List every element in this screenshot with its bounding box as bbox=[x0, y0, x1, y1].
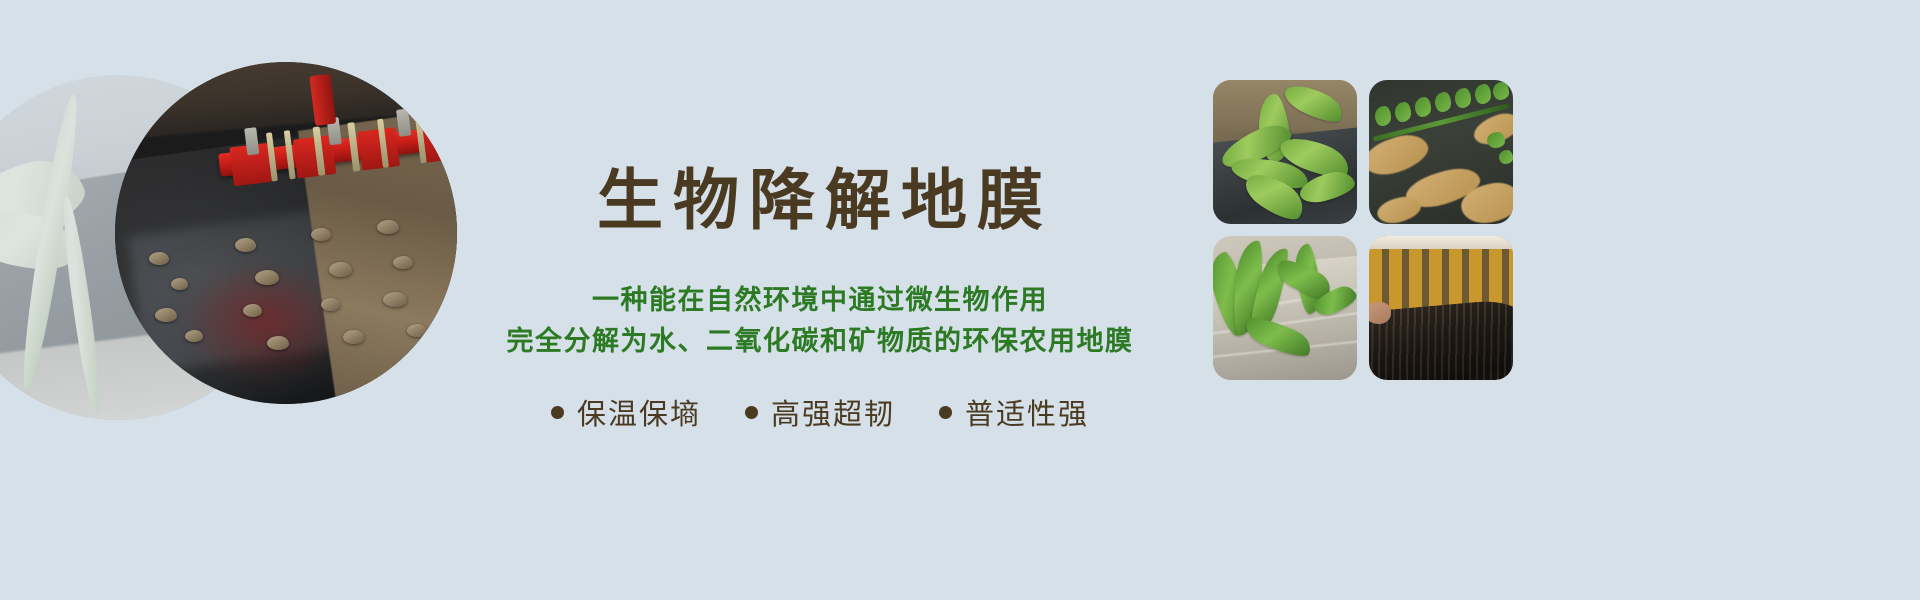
photo-film-laying-machine: 红色铺膜机在田间铺设黑色地膜 bbox=[115, 62, 457, 404]
hero-copy: 生物降解地膜 一种能在自然环境中通过微生物作用 完全分解为水、二氧化碳和矿物质的… bbox=[460, 0, 1180, 600]
photo-black-film-roll-by-fence: 木栅栏旁的黑色地膜卷 bbox=[1369, 236, 1513, 380]
page-title: 生物降解地膜 bbox=[587, 167, 1053, 237]
subtitle-line-2: 完全分解为水、二氧化碳和矿物质的环保农用地膜 bbox=[507, 321, 1134, 362]
feature-label: 普适性强 bbox=[965, 391, 1089, 433]
feature-label: 高强超韧 bbox=[771, 391, 895, 433]
bullet-dot-icon bbox=[745, 406, 758, 419]
bullet-dot-icon bbox=[551, 406, 564, 419]
product-photo-grid: 黑色地膜上的阔叶作物 覆膜田垄上的成排幼苗 bbox=[1213, 80, 1513, 400]
feature-label: 保温保墒 bbox=[577, 391, 701, 433]
hero-subtitle: 一种能在自然环境中通过微生物作用 完全分解为水、二氧化碳和矿物质的环保农用地膜 bbox=[507, 280, 1134, 361]
photo-corn-leaves-on-grey-film: 灰白地膜上的玉米叶片 bbox=[1213, 236, 1357, 380]
product-hero-banner: 作物植株生长在地膜上（淡化背景图） bbox=[0, 0, 1920, 600]
photo-broadleaf-crop-on-black-film: 黑色地膜上的阔叶作物 bbox=[1213, 80, 1357, 224]
feature-item-thermal-moisture: 保温保墒 bbox=[551, 391, 701, 433]
feature-list: 保温保墒 高强超韧 普适性强 bbox=[551, 391, 1089, 433]
photo-seedling-rows-on-film: 覆膜田垄上的成排幼苗 bbox=[1369, 80, 1513, 224]
left-photo-cluster: 作物植株生长在地膜上（淡化背景图） bbox=[0, 0, 500, 600]
feature-item-versatility: 普适性强 bbox=[939, 391, 1089, 433]
bullet-dot-icon bbox=[939, 406, 952, 419]
feature-item-high-strength: 高强超韧 bbox=[745, 391, 895, 433]
subtitle-line-1: 一种能在自然环境中通过微生物作用 bbox=[507, 280, 1134, 321]
